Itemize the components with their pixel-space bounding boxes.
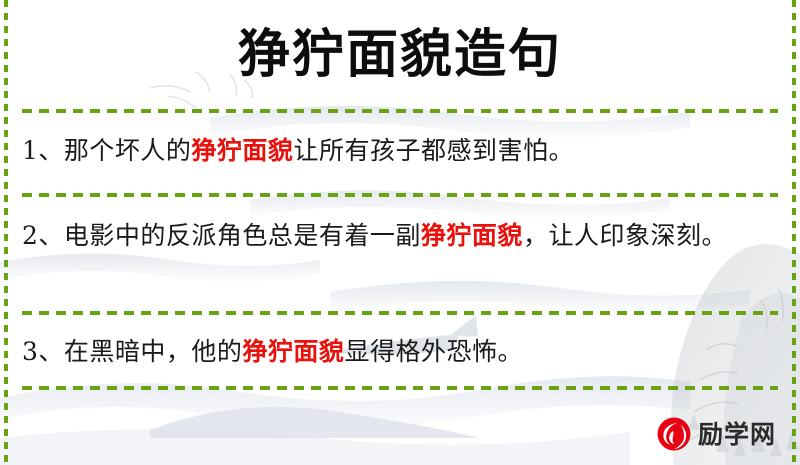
divider-rule-2 bbox=[22, 193, 778, 197]
example-sentence-1: 1、那个坏人的狰狞面貌让所有孩子都感到害怕。 bbox=[22, 131, 774, 171]
divider-rule-4 bbox=[22, 386, 778, 390]
sentence-3-before: 在黑暗中，他的 bbox=[64, 337, 243, 366]
sentence-1-keyword: 狰狞面貌 bbox=[191, 136, 293, 165]
sentence-2-keyword: 狰狞面貌 bbox=[421, 221, 523, 250]
sentence-2-index: 2、 bbox=[22, 221, 64, 250]
sentence-3-after: 显得格外恐怖。 bbox=[344, 337, 523, 366]
example-sentence-2: 2、电影中的反派角色总是有着一副狰狞面貌，让人印象深刻。 bbox=[22, 216, 774, 256]
sentence-3-index: 3、 bbox=[22, 337, 64, 366]
sentence-2-after: ，让人印象深刻。 bbox=[523, 221, 727, 250]
site-logo[interactable]: 励学网 bbox=[657, 417, 776, 451]
divider-rule-1 bbox=[22, 109, 778, 113]
divider-rule-3 bbox=[22, 311, 778, 315]
sentence-1-index: 1、 bbox=[22, 136, 64, 165]
sentence-3-keyword: 狰狞面貌 bbox=[242, 337, 344, 366]
flame-swirl-icon bbox=[657, 417, 691, 451]
page-title: 狰狞面貌造句 bbox=[0, 24, 800, 86]
logo-text: 励学网 bbox=[698, 422, 776, 447]
sentence-1-after: 让所有孩子都感到害怕。 bbox=[293, 136, 574, 165]
sentence-2-before: 电影中的反派角色总是有着一副 bbox=[64, 221, 421, 250]
example-sentence-3: 3、在黑暗中，他的狰狞面貌显得格外恐怖。 bbox=[22, 332, 774, 372]
document-page: 狰狞面貌造句 1、那个坏人的狰狞面貌让所有孩子都感到害怕。 2、电影中的反派角色… bbox=[0, 0, 800, 465]
sentence-1-before: 那个坏人的 bbox=[64, 136, 192, 165]
